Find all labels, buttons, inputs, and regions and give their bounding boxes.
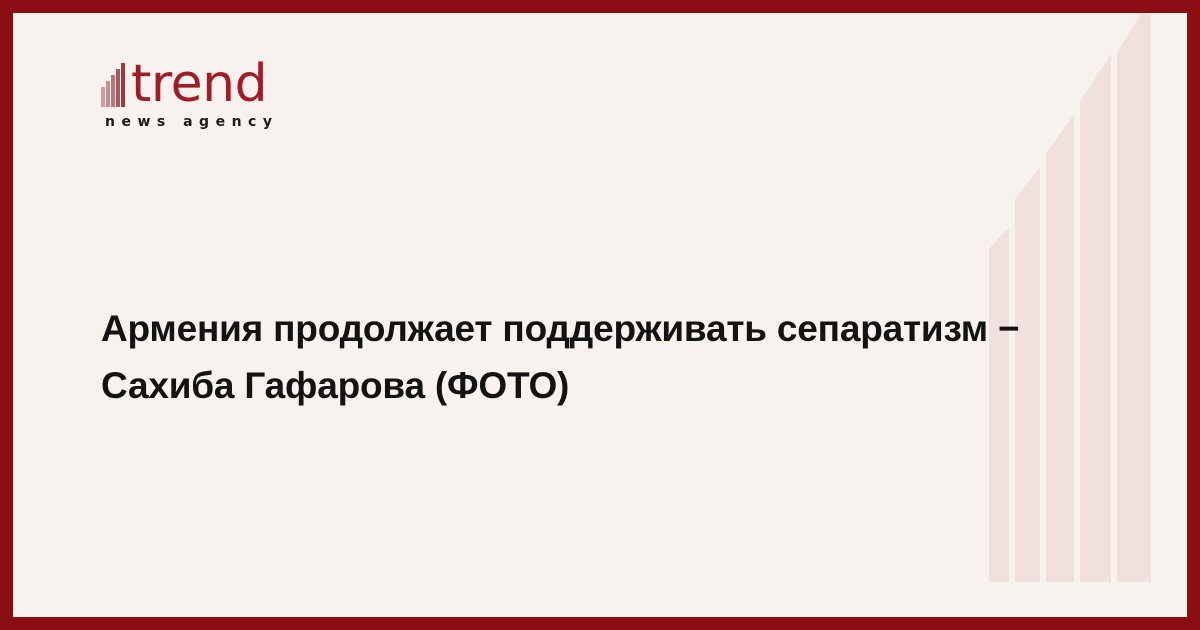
headline-line-1: Армения продолжает поддерживать сепарати… — [101, 300, 1101, 357]
logo-mark-bar-4 — [116, 69, 120, 107]
news-social-card: trend news agency Армения продолжает под… — [0, 0, 1200, 630]
trend-bars-logo-icon — [101, 59, 129, 107]
brand-tagline: news agency — [105, 114, 278, 130]
logo-mark-bar-2 — [106, 81, 110, 107]
brand-logo[interactable]: trend news agency — [101, 51, 278, 130]
brand-wordmark: trend — [131, 61, 267, 107]
watermark-bar-5 — [1117, 0, 1151, 582]
page-title: Армения продолжает поддерживать сепарати… — [101, 300, 1101, 414]
headline-line-2: Сахиба Гафарова (ФОТО) — [101, 357, 1101, 414]
logo-mark-bar-3 — [111, 75, 115, 107]
logo-row: trend — [101, 51, 278, 107]
logo-mark-bar-5 — [121, 63, 125, 107]
logo-mark-bar-1 — [101, 87, 105, 107]
